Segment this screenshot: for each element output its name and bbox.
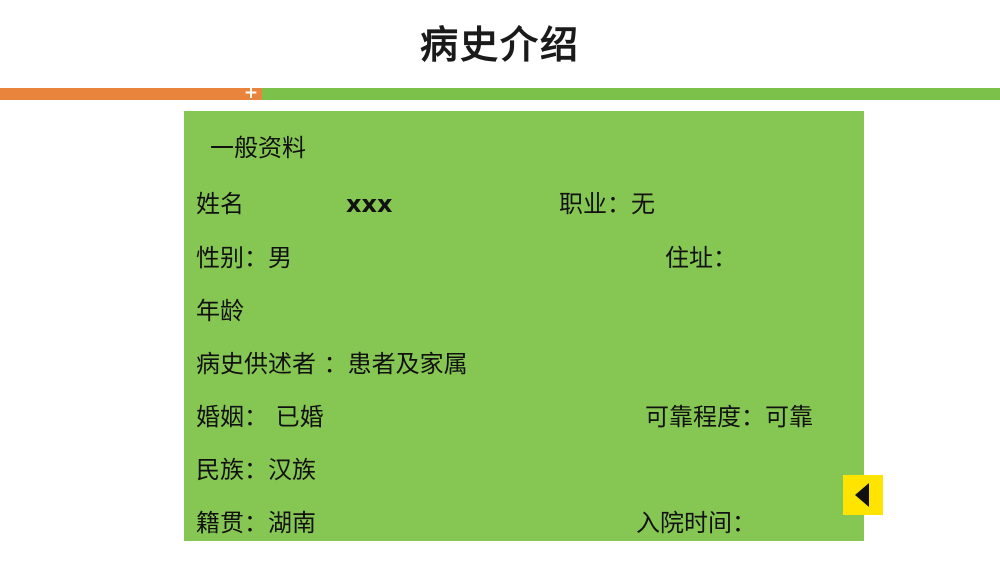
- line-left-text: 病史供述者 ：患者及家属: [196, 337, 468, 391]
- line-right-text: 入院时间：: [636, 496, 756, 550]
- divider: +: [0, 88, 1000, 100]
- line-left-text: 年龄: [196, 284, 244, 338]
- list-item: 姓名 xxx 职业：无: [184, 177, 864, 231]
- line-left-text: 姓名: [196, 177, 244, 231]
- list-item: 病史供述者 ：患者及家属: [184, 337, 864, 391]
- triangle-left-icon: [855, 483, 869, 507]
- line-left-text: 民族：汉族: [196, 443, 316, 497]
- list-item: 一般资料: [184, 121, 864, 175]
- previous-slide-button[interactable]: [843, 475, 883, 515]
- line-right-text: 住址：: [665, 231, 737, 285]
- line-right-text: 职业：无: [559, 177, 655, 231]
- slide: 病史介绍 + 一般资料 姓名 xxx 职业：无 性别：男 住址： 年龄 病史: [0, 0, 1000, 563]
- page-title: 病史介绍: [0, 14, 1000, 69]
- list-item: 婚姻： 已婚 可靠程度：可靠: [184, 390, 864, 444]
- list-item: 年龄: [184, 284, 864, 338]
- content-box: 一般资料 姓名 xxx 职业：无 性别：男 住址： 年龄 病史供述者 ：患者及家…: [184, 111, 864, 541]
- plus-icon: +: [243, 87, 259, 101]
- list-item: 籍贯：湖南 入院时间：: [184, 496, 864, 550]
- line-right-text: 可靠程度：可靠: [645, 390, 813, 444]
- line-left-text: 性别：男: [196, 231, 292, 285]
- line-left-text: 一般资料: [210, 121, 306, 175]
- divider-orange-bar: [0, 88, 262, 100]
- line-mid-text: xxx: [346, 177, 392, 231]
- list-item: 性别：男 住址：: [184, 231, 864, 285]
- content-lines: 一般资料 姓名 xxx 职业：无 性别：男 住址： 年龄 病史供述者 ：患者及家…: [184, 111, 864, 541]
- list-item: 民族：汉族: [184, 443, 864, 497]
- line-left-text: 婚姻： 已婚: [196, 390, 324, 444]
- line-left-text: 籍贯：湖南: [196, 496, 316, 550]
